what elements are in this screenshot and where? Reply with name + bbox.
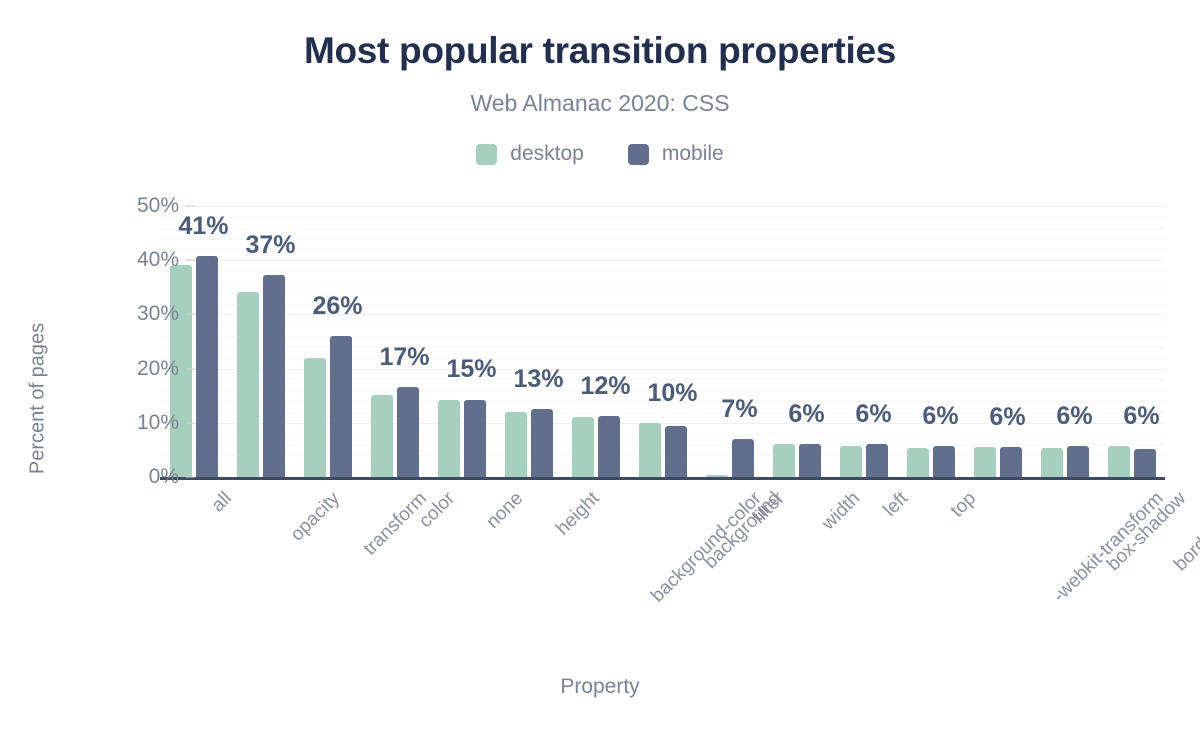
x-axis-label-none: none [482,488,527,533]
y-axis-tick-mark [186,260,195,261]
legend-item-desktop[interactable]: desktop [476,142,584,166]
x-axis-title: Property [0,675,1200,699]
gridline [160,260,1165,261]
y-axis-tick-label: 50% [69,194,179,218]
bar-desktop-transform[interactable] [304,358,326,477]
y-axis-tick-label: 20% [69,357,179,381]
bar-desktop-top[interactable] [907,448,929,477]
chart-title: Most popular transition properties [0,30,1200,72]
bar-desktop--webkit-transform[interactable] [974,447,996,477]
bar-chart: Most popular transition properties Web A… [0,0,1200,742]
bar-desktop-none[interactable] [438,400,460,477]
data-label: 6% [788,400,824,429]
legend-label-mobile: mobile [662,142,724,166]
data-label: 6% [1123,402,1159,431]
bar-desktop-border-color[interactable] [1108,446,1130,477]
bar-desktop-box-shadow[interactable] [1041,448,1063,477]
legend-swatch-icon [476,144,497,165]
x-axis-label-all: all [207,488,236,517]
bar-mobile-top[interactable] [933,446,955,477]
x-axis-label-opacity: opacity [286,488,344,546]
data-label: 6% [989,403,1025,432]
y-axis-tick-mark [186,477,195,478]
bar-desktop-background[interactable] [639,423,661,477]
legend-label-desktop: desktop [510,142,584,166]
y-axis-tick-label: 10% [69,411,179,435]
bar-mobile-none[interactable] [464,400,486,478]
bar-mobile-box-shadow[interactable] [1067,446,1089,477]
data-label: 37% [245,231,295,260]
data-label: 7% [721,395,757,424]
bar-mobile-all[interactable] [196,256,218,477]
chart-legend: desktop mobile [0,142,1200,166]
x-axis-label-top: top [946,488,980,522]
y-axis-title: Percent of pages [27,299,50,499]
x-axis-line [160,477,1165,480]
gridline [160,336,1165,337]
data-label: 17% [379,343,429,372]
gridline [160,347,1165,348]
gridline [160,282,1165,283]
legend-swatch-icon [628,144,649,165]
y-axis-tick-mark [186,422,195,423]
bar-desktop-left[interactable] [840,446,862,477]
x-axis-label--webkit-transform: -webkit-transform [1048,488,1167,607]
bar-desktop-color[interactable] [371,395,393,477]
x-axis-label-background-color: background-color [647,488,766,607]
x-axis-label-left: left [879,488,912,521]
bar-desktop-width[interactable] [773,444,795,477]
data-label: 15% [446,355,496,384]
bar-mobile-left[interactable] [866,444,888,477]
bar-mobile-border-color[interactable] [1134,449,1156,477]
gridline [160,271,1165,272]
bar-mobile-background-color[interactable] [598,416,620,477]
bar-mobile-transform[interactable] [330,336,352,477]
gridline [160,239,1165,240]
data-label: 6% [855,400,891,429]
bar-mobile-color[interactable] [397,387,419,477]
data-label: 26% [312,292,362,321]
gridline [160,325,1165,326]
plot-area [160,206,1165,477]
x-axis-label-width: width [817,488,864,535]
bar-mobile-opacity[interactable] [263,275,285,477]
bar-mobile-width[interactable] [799,444,821,477]
bar-mobile--webkit-transform[interactable] [1000,447,1022,477]
data-label: 6% [1056,402,1092,431]
bar-desktop-opacity[interactable] [237,292,259,477]
x-axis-label-height: height [552,488,604,540]
data-label: 6% [922,402,958,431]
y-axis-tick-mark [186,206,195,207]
gridline [160,249,1165,250]
gridline [160,304,1165,305]
data-label: 41% [178,212,228,241]
data-label: 13% [513,365,563,394]
legend-item-mobile[interactable]: mobile [628,142,724,166]
x-axis-label-transform: transform [359,488,431,560]
bar-desktop-height[interactable] [505,412,527,477]
bar-desktop-background-color[interactable] [572,417,594,477]
y-axis-tick-label: 30% [69,302,179,326]
gridline [160,314,1165,315]
chart-subtitle: Web Almanac 2020: CSS [0,90,1200,117]
gridline [160,217,1165,218]
y-axis-tick-mark [186,368,195,369]
gridline [160,206,1165,207]
y-axis-tick-label: 40% [69,248,179,272]
data-label: 12% [580,372,630,401]
y-axis-tick-label: 0% [69,465,179,489]
gridline [160,293,1165,294]
y-axis-tick-mark [186,314,195,315]
bar-mobile-height[interactable] [531,409,553,477]
data-label: 10% [647,379,697,408]
gridline [160,228,1165,229]
bar-mobile-filter[interactable] [732,439,754,477]
bar-mobile-background[interactable] [665,426,687,477]
